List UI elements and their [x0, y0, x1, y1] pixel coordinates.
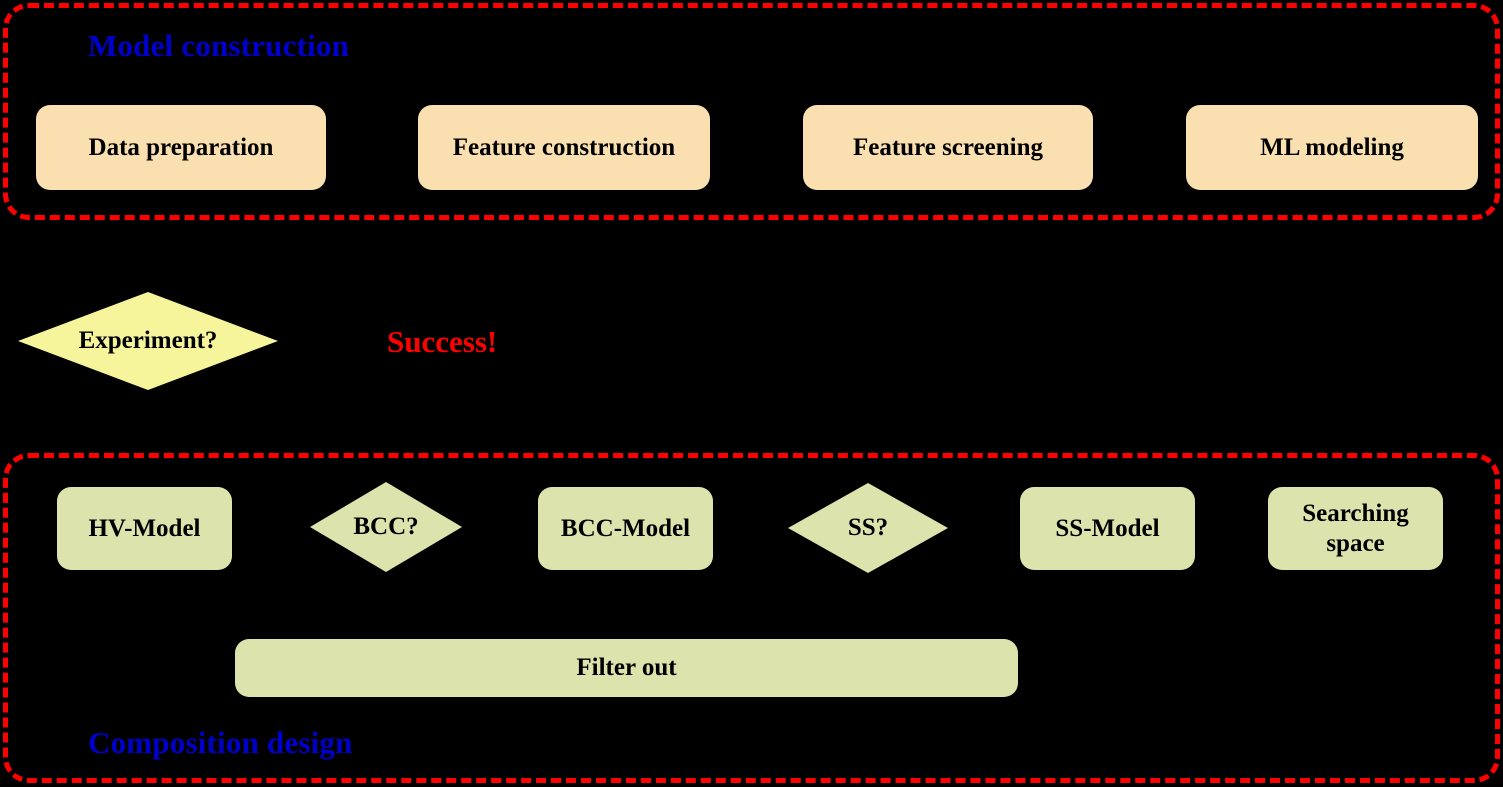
- process-box-bcc-model[interactable]: BCC-Model: [538, 487, 713, 570]
- process-box-label: Filter out: [576, 654, 676, 682]
- annotation-success: Success!: [387, 326, 497, 357]
- process-box-hv-model[interactable]: HV-Model: [57, 487, 232, 570]
- flowchart-canvas: Model construction Data preparation Feat…: [0, 0, 1503, 787]
- process-box-label: SS-Model: [1055, 515, 1159, 543]
- process-box-ml-modeling[interactable]: ML modeling: [1186, 105, 1478, 190]
- process-box-label: HV-Model: [88, 515, 200, 543]
- decision-diamond-experiment[interactable]: Experiment?: [18, 292, 278, 390]
- group-title-composition-design: Composition design: [88, 727, 353, 758]
- process-box-label: BCC-Model: [561, 515, 690, 543]
- process-box-label: Data preparation: [89, 134, 274, 162]
- process-box-label: ML modeling: [1260, 134, 1404, 162]
- decision-diamond-bcc[interactable]: BCC?: [310, 482, 462, 572]
- group-title-model-construction: Model construction: [88, 30, 349, 61]
- process-box-feature-construction[interactable]: Feature construction: [418, 105, 710, 190]
- diamond-shape-icon: [18, 292, 278, 390]
- process-box-filter-out[interactable]: Filter out: [235, 639, 1018, 697]
- process-box-label: Feature construction: [453, 134, 675, 162]
- process-box-label: Searching space: [1274, 499, 1437, 558]
- decision-diamond-ss[interactable]: SS?: [788, 483, 948, 573]
- process-box-feature-screening[interactable]: Feature screening: [803, 105, 1093, 190]
- process-box-ss-model[interactable]: SS-Model: [1020, 487, 1195, 570]
- process-box-searching-space[interactable]: Searching space: [1268, 487, 1443, 570]
- diamond-shape-icon: [310, 482, 462, 572]
- process-box-label: Feature screening: [853, 134, 1043, 162]
- process-box-data-preparation[interactable]: Data preparation: [36, 105, 326, 190]
- diamond-shape-icon: [788, 483, 948, 573]
